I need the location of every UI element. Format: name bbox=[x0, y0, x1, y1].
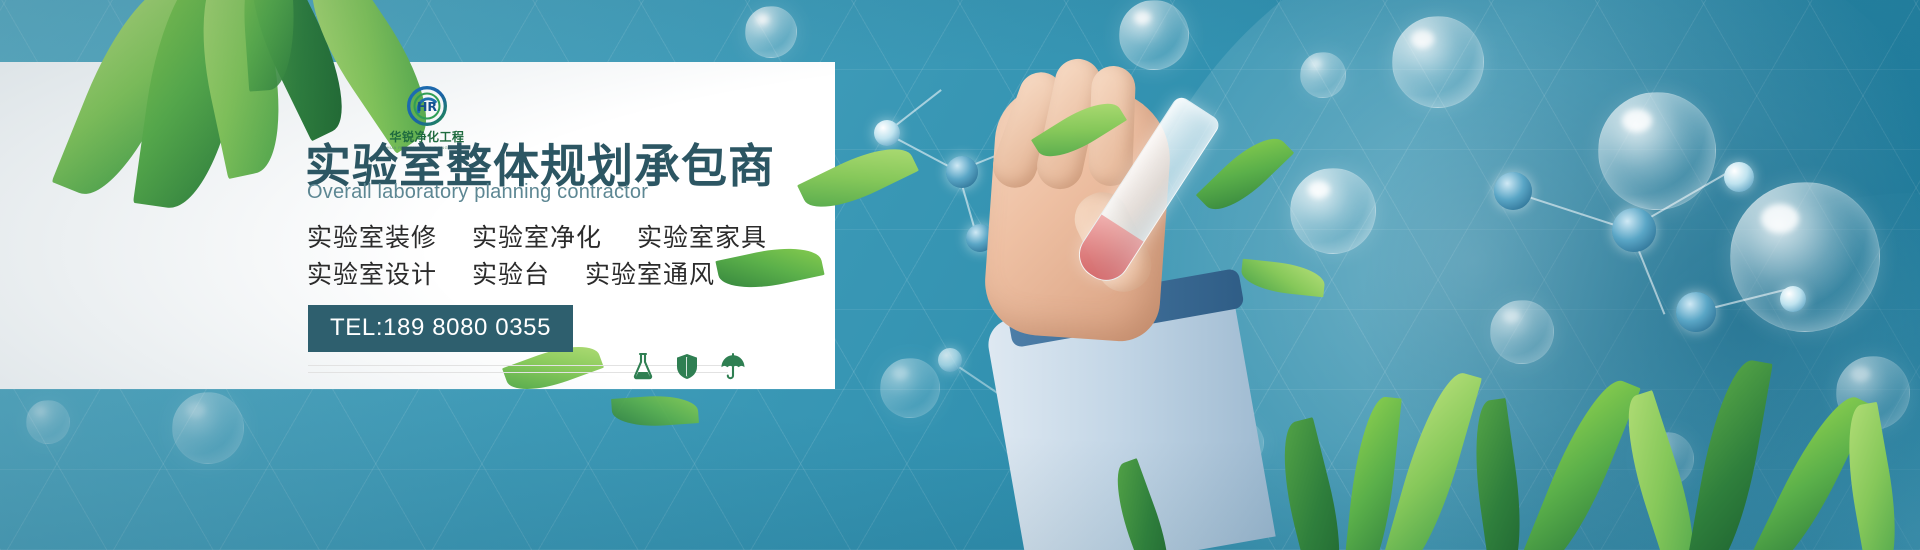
decorative-bubble bbox=[1290, 168, 1376, 254]
service-item: 实验室净化 bbox=[472, 223, 602, 252]
decorative-bubble bbox=[1119, 0, 1189, 70]
flask-icon bbox=[632, 352, 654, 380]
service-item: 实验台 bbox=[472, 260, 550, 289]
decorative-bubble bbox=[172, 392, 244, 464]
service-item: 实验室通风 bbox=[585, 260, 715, 289]
service-item: 实验室设计 bbox=[307, 260, 437, 289]
page-subtitle: Overall laboratory planning contractor bbox=[307, 181, 648, 204]
svg-text:HR: HR bbox=[417, 99, 437, 114]
hr-circle-logo-icon: HR bbox=[407, 86, 447, 126]
decorative-bubble bbox=[1392, 16, 1484, 108]
umbrella-icon bbox=[720, 353, 746, 380]
telephone-button[interactable]: TEL:189 8080 0355 bbox=[308, 305, 573, 352]
feature-icon-row bbox=[632, 352, 746, 380]
molecule-graphic bbox=[1480, 150, 1820, 390]
decorative-bubble bbox=[745, 6, 797, 58]
decorative-bubble bbox=[1300, 52, 1346, 98]
service-list-row-1: 实验室装修 实验室净化 实验室家具 bbox=[307, 218, 767, 254]
service-list-row-2: 实验室设计 实验台 实验室通风 bbox=[307, 255, 715, 291]
service-item: 实验室家具 bbox=[637, 223, 767, 252]
shield-icon bbox=[676, 353, 698, 380]
service-item: 实验室装修 bbox=[307, 223, 437, 252]
decorative-bubble bbox=[26, 400, 70, 444]
hero-banner: HR 华锐净化工程 HUA RUI JING HUA GONG CHENG 实验… bbox=[0, 0, 1920, 550]
